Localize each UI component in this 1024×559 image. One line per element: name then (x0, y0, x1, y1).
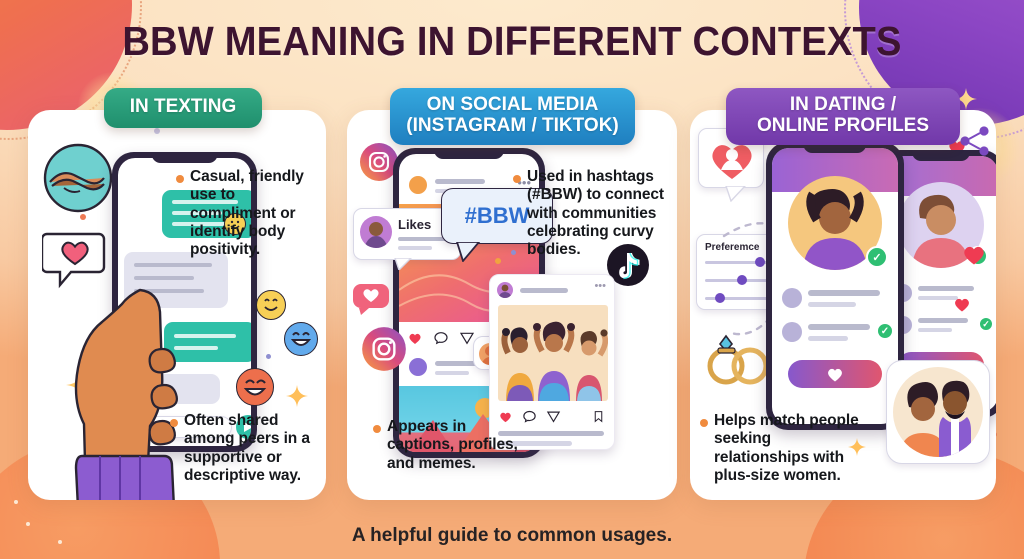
avatar (409, 358, 427, 376)
bullet-social-2: Appears in captions, profiles, and memes… (373, 418, 533, 483)
badge-line1: IN TEXTING (130, 96, 237, 117)
avatar (497, 282, 513, 298)
post-image-women (498, 305, 608, 401)
laughing-emoji-orange (236, 368, 274, 406)
bullet-dot (373, 425, 381, 433)
bullet-dot (176, 175, 184, 183)
smartphone-dating-profile: ✓ ✓ (766, 142, 904, 430)
badge-line2: (INSTAGRAM / TIKTOK) (404, 116, 621, 137)
avatar (782, 322, 802, 342)
page-title: BBW MEANING IN DIFFERENT CONTEXTS (36, 18, 988, 65)
bullet-text: Appears in captions, profiles, and memes… (387, 418, 533, 473)
heart-icon[interactable] (407, 330, 423, 346)
avatar (360, 216, 392, 248)
phone-screen: ✓ ✓ (772, 148, 898, 424)
badge-social-media: ON SOCIAL MEDIA (INSTAGRAM / TIKTOK) (390, 88, 635, 145)
badge-line1: ON SOCIAL MEDIA (427, 94, 599, 115)
sparkle-icon (286, 385, 308, 407)
verified-check-icon: ✓ (866, 246, 888, 268)
bullet-text: Helps match people seeking relationships… (714, 412, 866, 485)
bullet-text: Used in hashtags (#BBW) to connect with … (527, 168, 671, 259)
bullet-text: Casual, friendly use to compliment or id… (190, 168, 318, 259)
phone-notch (434, 148, 504, 159)
avatar (782, 288, 802, 308)
heart-icon (952, 294, 972, 319)
bullet-social-1: Used in hashtags (#BBW) to connect with … (513, 168, 671, 269)
wedding-rings-icon (700, 328, 776, 393)
couple-portrait-icon (886, 360, 990, 464)
bullet-dating-1: Helps match people seeking relationships… (700, 412, 866, 495)
verified-check-icon: ✓ (876, 322, 894, 340)
decorative-dot (14, 500, 18, 504)
decorative-dot (266, 354, 271, 359)
badge-dating: IN DATING / ONLINE PROFILES (726, 88, 960, 145)
badge-line1: IN DATING / (790, 94, 896, 115)
avatar (409, 176, 427, 194)
heart-reaction-icon (351, 282, 393, 321)
smiley-emoji-yellow (256, 290, 286, 320)
bullet-dot (513, 175, 521, 183)
laughing-emoji-blue (284, 322, 318, 356)
bookmark-icon[interactable] (592, 409, 605, 424)
instagram-logo-icon (361, 326, 407, 377)
bullet-texting-1: Casual, friendly use to compliment or id… (176, 168, 318, 269)
comment-icon[interactable] (433, 330, 449, 346)
likes-label: Likes (398, 217, 431, 232)
share-icon[interactable] (546, 409, 561, 424)
speech-bubble-tail (455, 242, 481, 262)
phone-notch (912, 150, 970, 161)
phone-notch (151, 152, 218, 163)
bullet-dot (700, 419, 708, 427)
bullet-dot (170, 419, 178, 427)
badge-texting: IN TEXTING (104, 88, 262, 128)
heart-icon (960, 240, 988, 273)
handshake-circle-icon (42, 142, 114, 219)
bullet-texting-2: Often shared among peers in a supportive… (170, 412, 320, 495)
decorative-dot (154, 128, 160, 134)
footer-caption: A helpful guide to common usages. (0, 525, 1024, 547)
badge-line2: ONLINE PROFILES (740, 116, 946, 137)
decorative-dot (80, 214, 86, 220)
decorative-dot (495, 258, 501, 264)
bullet-text: Often shared among peers in a supportive… (184, 412, 320, 485)
like-button[interactable] (788, 360, 882, 388)
verified-check-icon: ✓ (978, 316, 994, 332)
more-options-icon[interactable]: ••• (594, 283, 606, 289)
